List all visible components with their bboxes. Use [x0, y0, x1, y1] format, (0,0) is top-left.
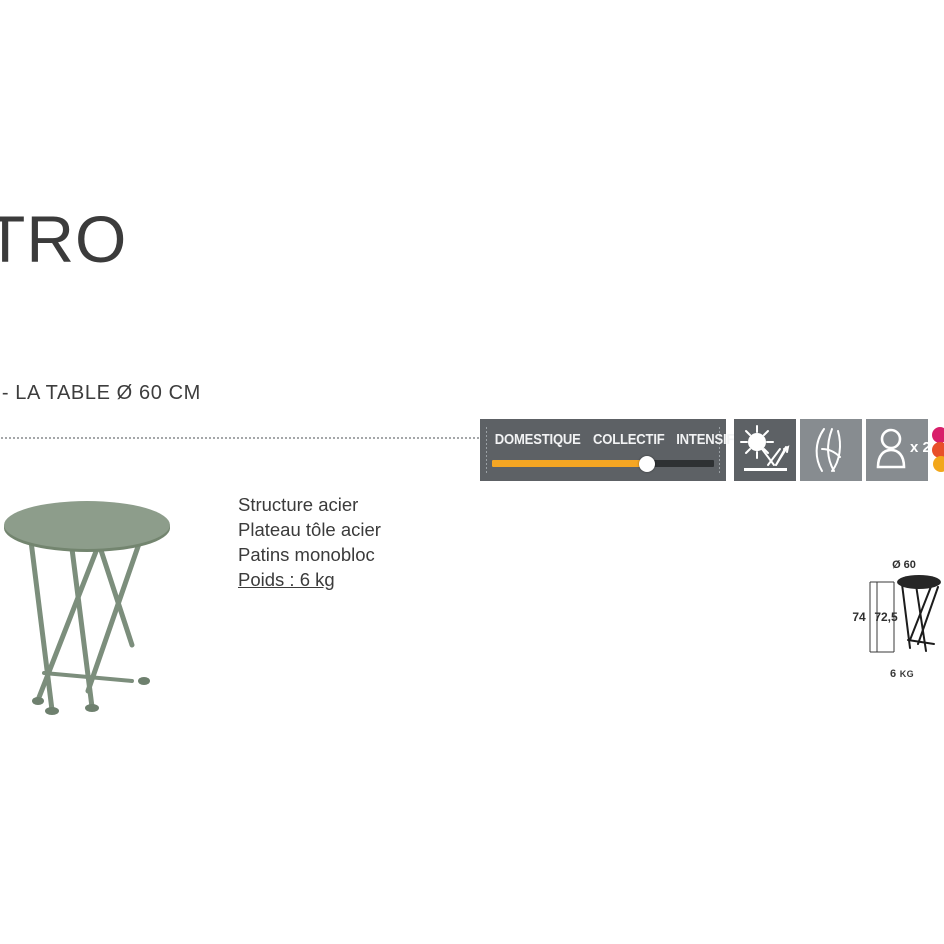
seats-count-label: x 2 — [910, 439, 928, 456]
color-swatches-icon — [932, 419, 944, 481]
usage-tick-left — [486, 427, 487, 473]
usage-label-intensif: INTENSIF — [676, 432, 734, 448]
dotted-leader-line — [0, 437, 482, 439]
usage-label-domestique: DOMESTIQUE — [495, 432, 581, 448]
folding-icon — [800, 419, 862, 481]
page-title: STRO — [0, 206, 127, 272]
dim-weight-unit: KG — [900, 669, 914, 679]
sun-resistance-icon — [734, 419, 796, 481]
dim-weight-value: 6 — [890, 668, 896, 680]
dim-diameter-label: Ø 60 — [892, 559, 916, 571]
pictogram-row: x 2 — [734, 419, 944, 481]
usage-slider-knob[interactable] — [639, 456, 655, 472]
dim-height-inner-label: 72,5 — [874, 610, 898, 624]
seats-person-icon: x 2 — [866, 419, 928, 481]
product-photo-bistro-table — [0, 495, 182, 730]
spec-list: Structure acier Plateau tôle acier Patin… — [238, 492, 381, 592]
spec-item-structure: Structure acier — [238, 492, 381, 517]
dim-weight-label: 6 KG — [890, 668, 914, 680]
usage-labels: DOMESTIQUE COLLECTIF INTENSIF — [490, 432, 716, 448]
usage-slider-fill — [492, 460, 647, 467]
spec-item-plateau: Plateau tôle acier — [238, 517, 381, 542]
product-subtitle: 5 - LA TABLE Ø 60 CM — [0, 382, 201, 405]
spec-item-poids: Poids : 6 kg — [238, 567, 381, 592]
usage-label-collectif: COLLECTIF — [593, 432, 665, 448]
dim-height-outer-label: 74 — [852, 610, 866, 624]
spec-item-patins: Patins monobloc — [238, 542, 381, 567]
usage-intensity-bar: DOMESTIQUE COLLECTIF INTENSIF — [480, 419, 726, 481]
usage-slider-track[interactable] — [492, 460, 714, 467]
